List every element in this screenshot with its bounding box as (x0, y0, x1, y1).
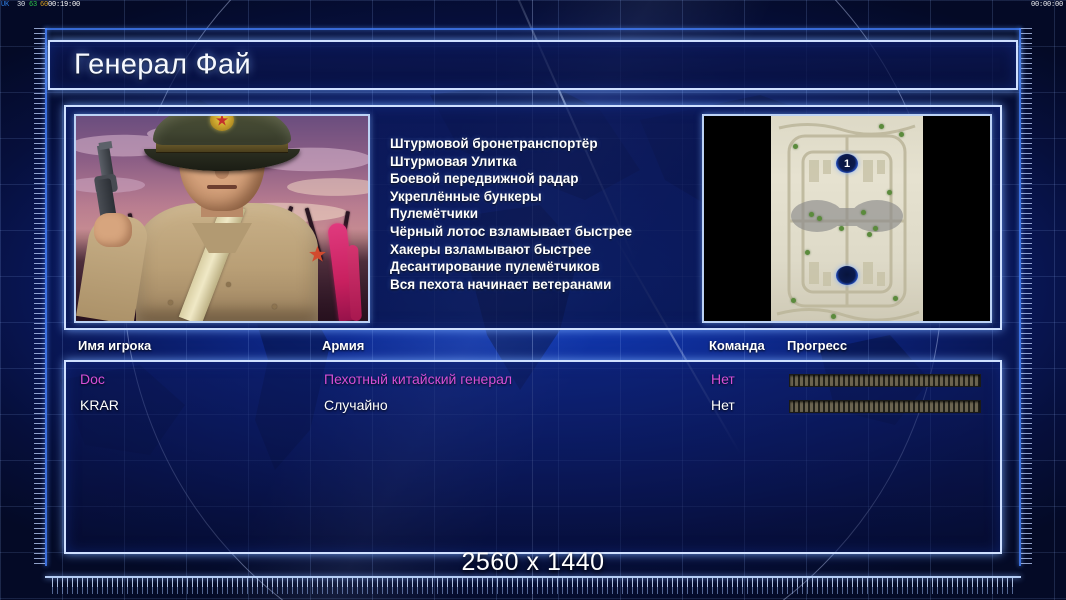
player-team: Нет (711, 397, 735, 413)
player-name: Doc (80, 371, 105, 387)
minimap-terrain: 1 (771, 116, 923, 321)
general-abilities-list: Штурмовой бронетранспортёр Штурмовая Ули… (390, 135, 720, 293)
minimap-start-position-2[interactable] (836, 266, 858, 285)
column-header-progress: Прогресс (787, 338, 847, 353)
status-region: UK (1, 0, 9, 10)
ability-item: Штурмовая Улитка (390, 153, 720, 171)
minimap-resource (867, 232, 872, 237)
player-army: Случайно (324, 397, 388, 413)
ability-item: Укреплённые бункеры (390, 188, 720, 206)
minimap-start-position-1[interactable]: 1 (836, 154, 858, 173)
status-value-yellow: 60 (40, 0, 48, 10)
uniform-button (226, 282, 231, 287)
minimap-resource (879, 124, 884, 129)
ability-item: Штурмовой бронетранспортёр (390, 135, 720, 153)
player-army: Пехотный китайский генерал (324, 371, 512, 387)
game-lobby-screen: UK 30 63 60 00:19:00 00:00:00 Генерал Фа… (0, 0, 1066, 600)
column-header-name: Имя игрока (78, 338, 151, 353)
minimap-resource (791, 298, 796, 303)
minimap-resource (839, 226, 844, 231)
status-session-time: 00:19:00 (48, 0, 80, 10)
status-value-green: 63 (29, 0, 37, 10)
title-panel: Генерал Фай (48, 40, 1018, 90)
player-name: KRAR (80, 397, 119, 413)
frame-top-line (45, 28, 1021, 30)
ability-item: Чёрный лотос взламывает быстрее (390, 223, 720, 241)
resolution-overlay: 2560 x 1440 (0, 548, 1066, 577)
column-header-army: Армия (322, 338, 364, 353)
ruler-right (1021, 28, 1032, 566)
table-row[interactable]: Doc Пехотный китайский генерал Нет (66, 368, 1000, 393)
minimap-resource (817, 216, 822, 221)
player-progress-bar (789, 400, 981, 413)
mouth (207, 185, 237, 189)
player-progress-bar (789, 374, 981, 387)
minimap-resource (809, 212, 814, 217)
player-list-panel: Doc Пехотный китайский генерал Нет KRAR … (64, 360, 1002, 554)
general-portrait (74, 114, 370, 323)
portrait-hand (94, 213, 132, 247)
minimap-resource (793, 144, 798, 149)
ruler-left (34, 28, 45, 566)
player-team: Нет (711, 371, 735, 387)
uniform-button (168, 300, 173, 305)
ability-item: Хакеры взламывают быстрее (390, 241, 720, 259)
frame-left-line (45, 28, 47, 566)
minimap-resource (805, 250, 810, 255)
ruler-bottom (52, 578, 1014, 594)
top-status-bar: UK 30 63 60 00:19:00 00:00:00 (0, 0, 1066, 10)
status-timer: 00:00:00 (1031, 0, 1063, 10)
ability-item: Пулемётчики (390, 205, 720, 223)
ability-item: Вся пехота начинает ветеранами (390, 276, 720, 294)
general-info-panel: Штурмовой бронетранспортёр Штурмовая Ули… (64, 105, 1002, 330)
uniform-button (272, 304, 277, 309)
ability-item: Десантирование пулемётчиков (390, 258, 720, 276)
page-title: Генерал Фай (74, 49, 251, 82)
column-header-team: Команда (709, 338, 765, 353)
table-row[interactable]: KRAR Случайно Нет (66, 394, 1000, 419)
minimap-resource (899, 132, 904, 137)
status-fps: 30 (17, 0, 25, 10)
minimap-preview: 1 (702, 114, 992, 323)
minimap-resource (893, 296, 898, 301)
minimap-resource (861, 210, 866, 215)
ability-item: Боевой передвижной радар (390, 170, 720, 188)
minimap-resource (873, 226, 878, 231)
minimap-resource (887, 190, 892, 195)
player-list-header: Имя игрока Армия Команда Прогресс (64, 338, 1002, 360)
minimap-resource (831, 314, 836, 319)
